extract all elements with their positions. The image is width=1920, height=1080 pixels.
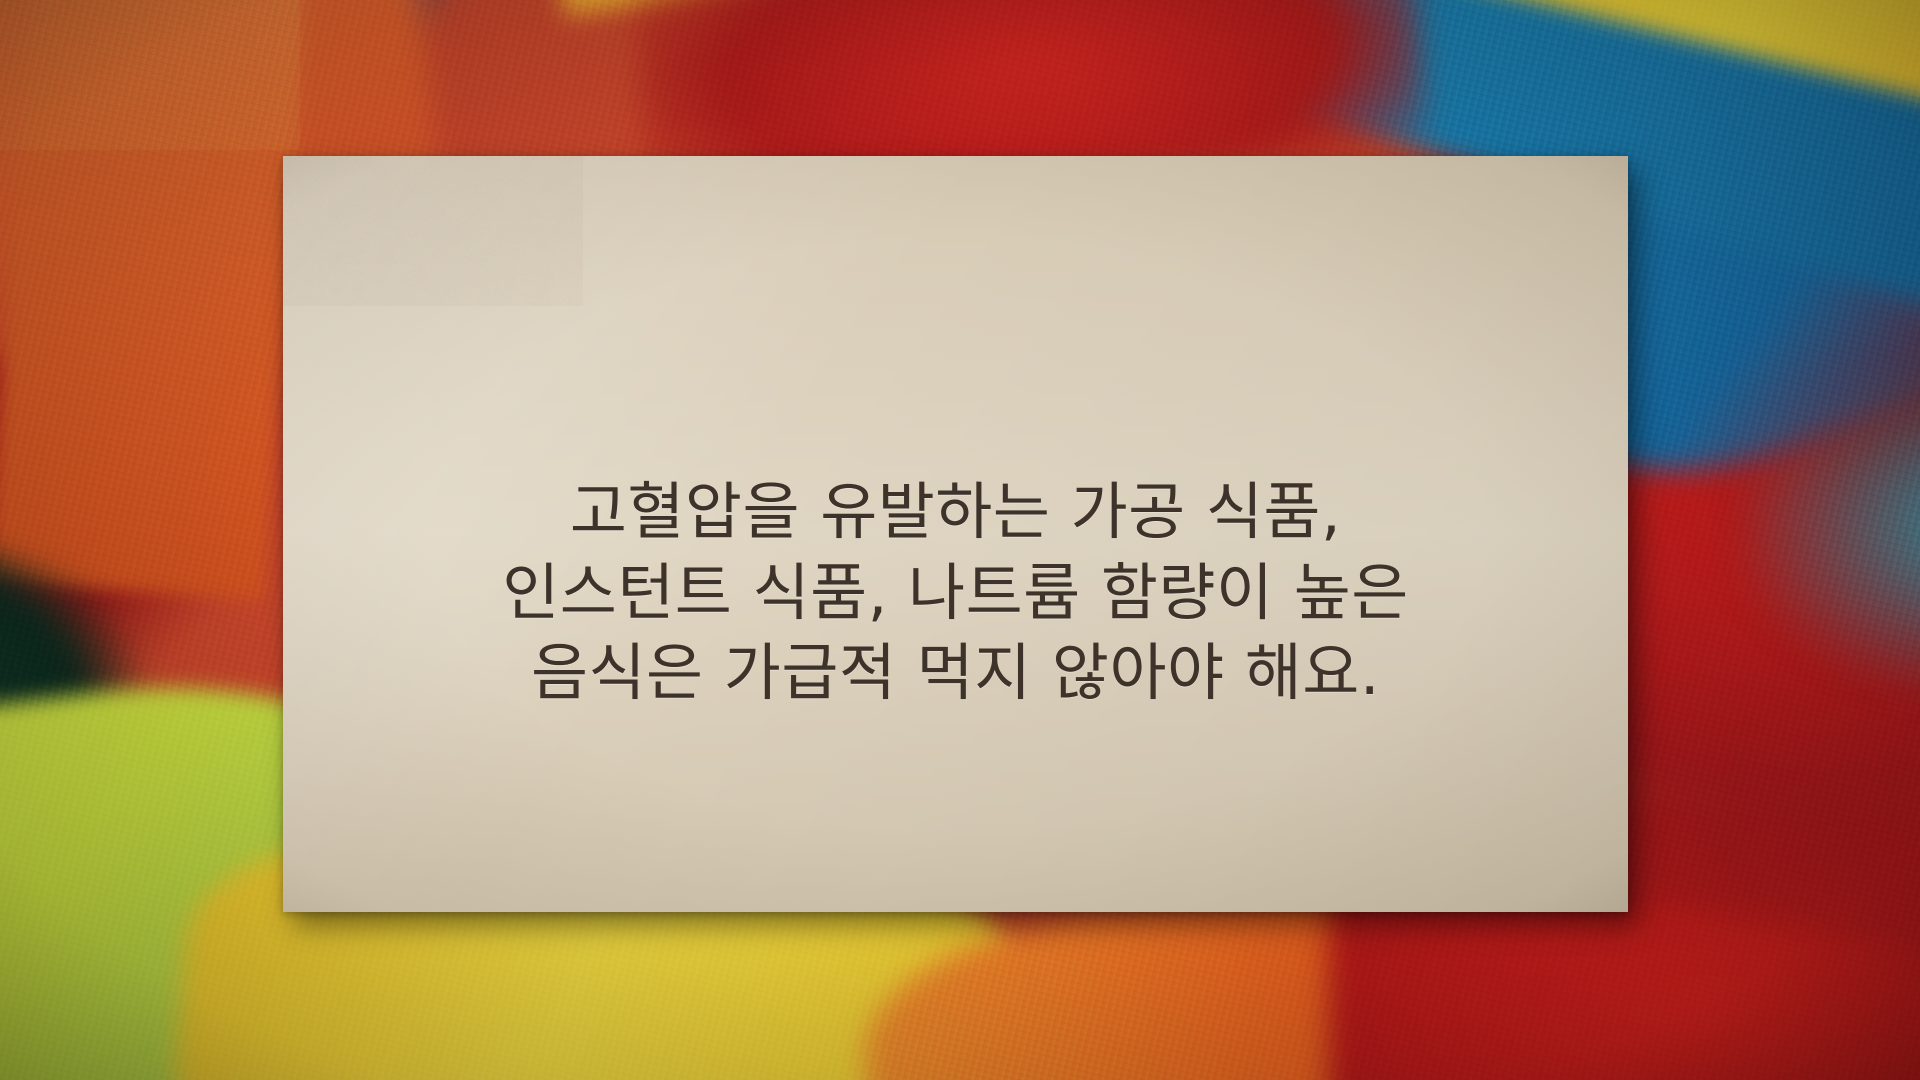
- quote-line-1: 고혈압을 유발하는 가공 식품,: [570, 472, 1341, 553]
- slide-stage: 고혈압을 유발하는 가공 식품, 인스턴트 식품, 나트륨 함량이 높은 음식은…: [0, 0, 1920, 1080]
- paper-card: 고혈압을 유발하는 가공 식품, 인스턴트 식품, 나트륨 함량이 높은 음식은…: [283, 156, 1628, 912]
- quote-line-3: 음식은 가급적 먹지 않아야 해요.: [531, 633, 1380, 714]
- quote-line-2: 인스턴트 식품, 나트륨 함량이 높은: [502, 553, 1409, 634]
- quote-text-block: 고혈압을 유발하는 가공 식품, 인스턴트 식품, 나트륨 함량이 높은 음식은…: [283, 156, 1628, 912]
- paint-grain-noise: [0, 0, 300, 150]
